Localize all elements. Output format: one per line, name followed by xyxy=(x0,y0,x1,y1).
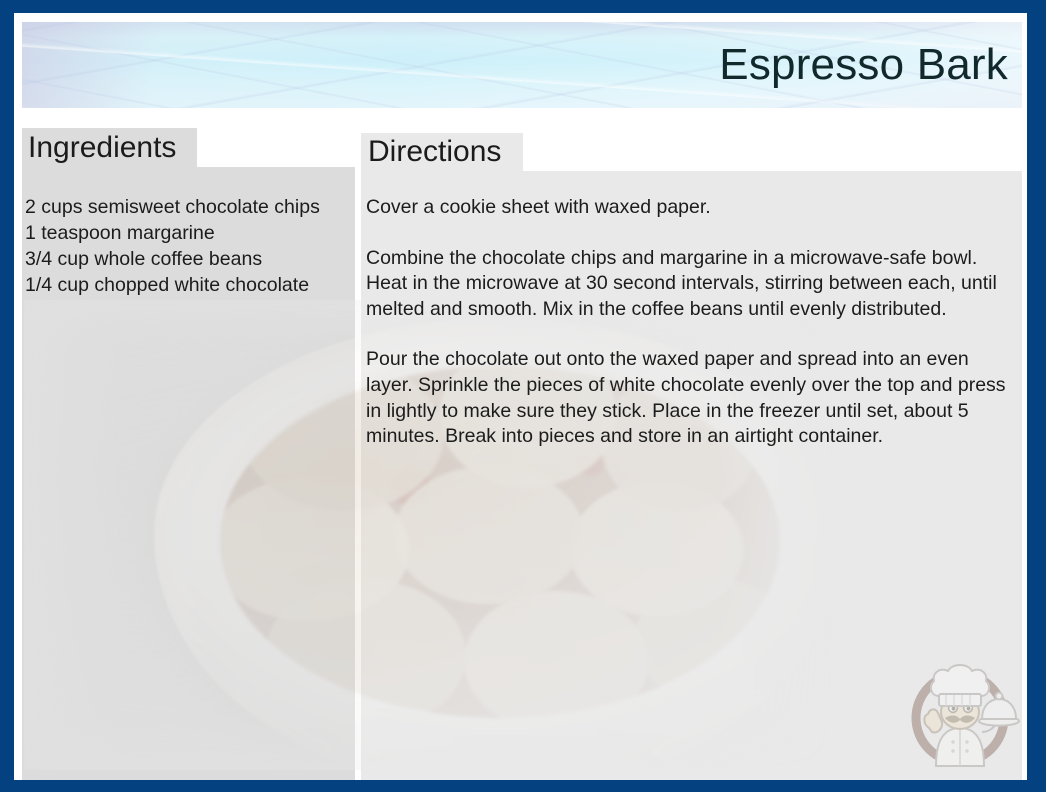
frame-border-top xyxy=(0,0,1046,13)
header-banner: Espresso Bark xyxy=(22,22,1022,108)
ingredients-list: 2 cups semisweet chocolate chips 1 teasp… xyxy=(25,194,355,298)
directions-heading: Directions xyxy=(368,137,501,167)
frame-border-bottom xyxy=(0,780,1046,792)
direction-step: Cover a cookie sheet with waxed paper. xyxy=(366,195,1016,221)
page-title: Espresso Bark xyxy=(719,43,1008,87)
list-item: 1 teaspoon margarine xyxy=(25,220,355,246)
frame-border-right xyxy=(1027,0,1046,792)
list-item: 3/4 cup whole coffee beans xyxy=(25,246,355,272)
frame-border-left xyxy=(0,0,14,792)
list-item: 2 cups semisweet chocolate chips xyxy=(25,194,355,220)
ingredients-heading: Ingredients xyxy=(28,133,176,163)
list-item: 1/4 cup chopped white chocolate xyxy=(25,272,355,298)
recipe-card: Ingredients Directions 2 cups semisweet … xyxy=(0,0,1046,792)
direction-step: Combine the chocolate chips and margarin… xyxy=(366,246,1016,323)
directions-body: Cover a cookie sheet with waxed paper. C… xyxy=(366,195,1016,450)
direction-step: Pour the chocolate out onto the waxed pa… xyxy=(366,347,1016,449)
